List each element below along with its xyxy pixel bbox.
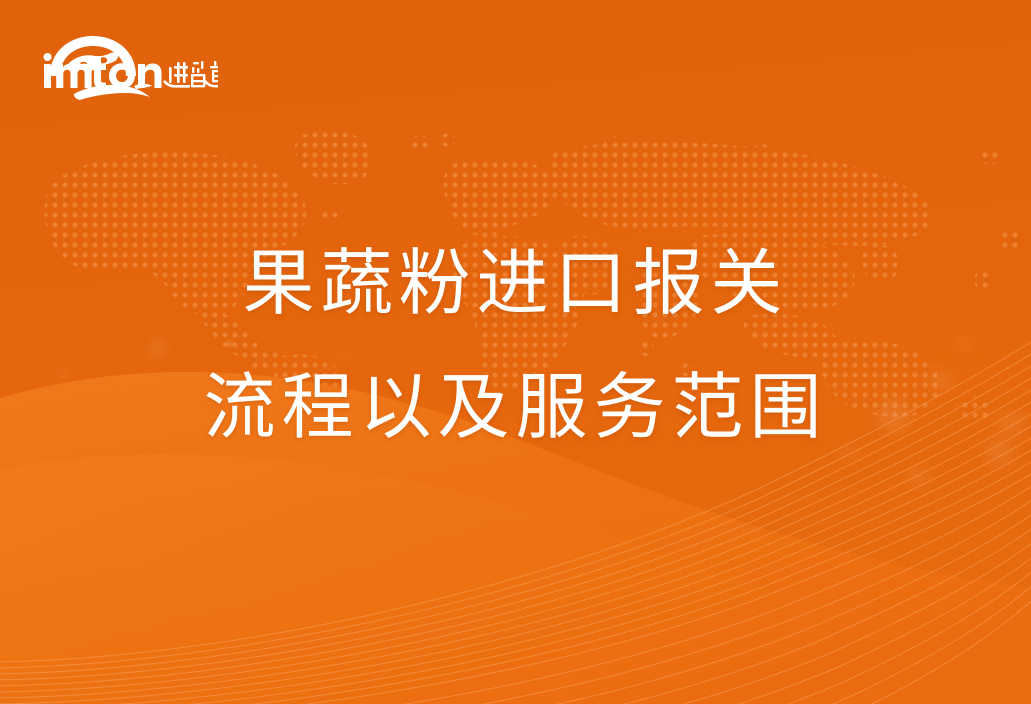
logo-wordmark-chinese: R	[163, 51, 218, 88]
page-title-line-2: 流程以及服务范围	[0, 372, 1031, 444]
title-block: 果蔬粉进口报关 流程以及服务范围	[0, 248, 1031, 444]
slide-canvas: R 果蔬粉进口报关 流程以及服务范围	[0, 0, 1031, 704]
page-title-line-1: 果蔬粉进口报关	[0, 248, 1031, 320]
brand-logo[interactable]: R	[38, 28, 218, 102]
